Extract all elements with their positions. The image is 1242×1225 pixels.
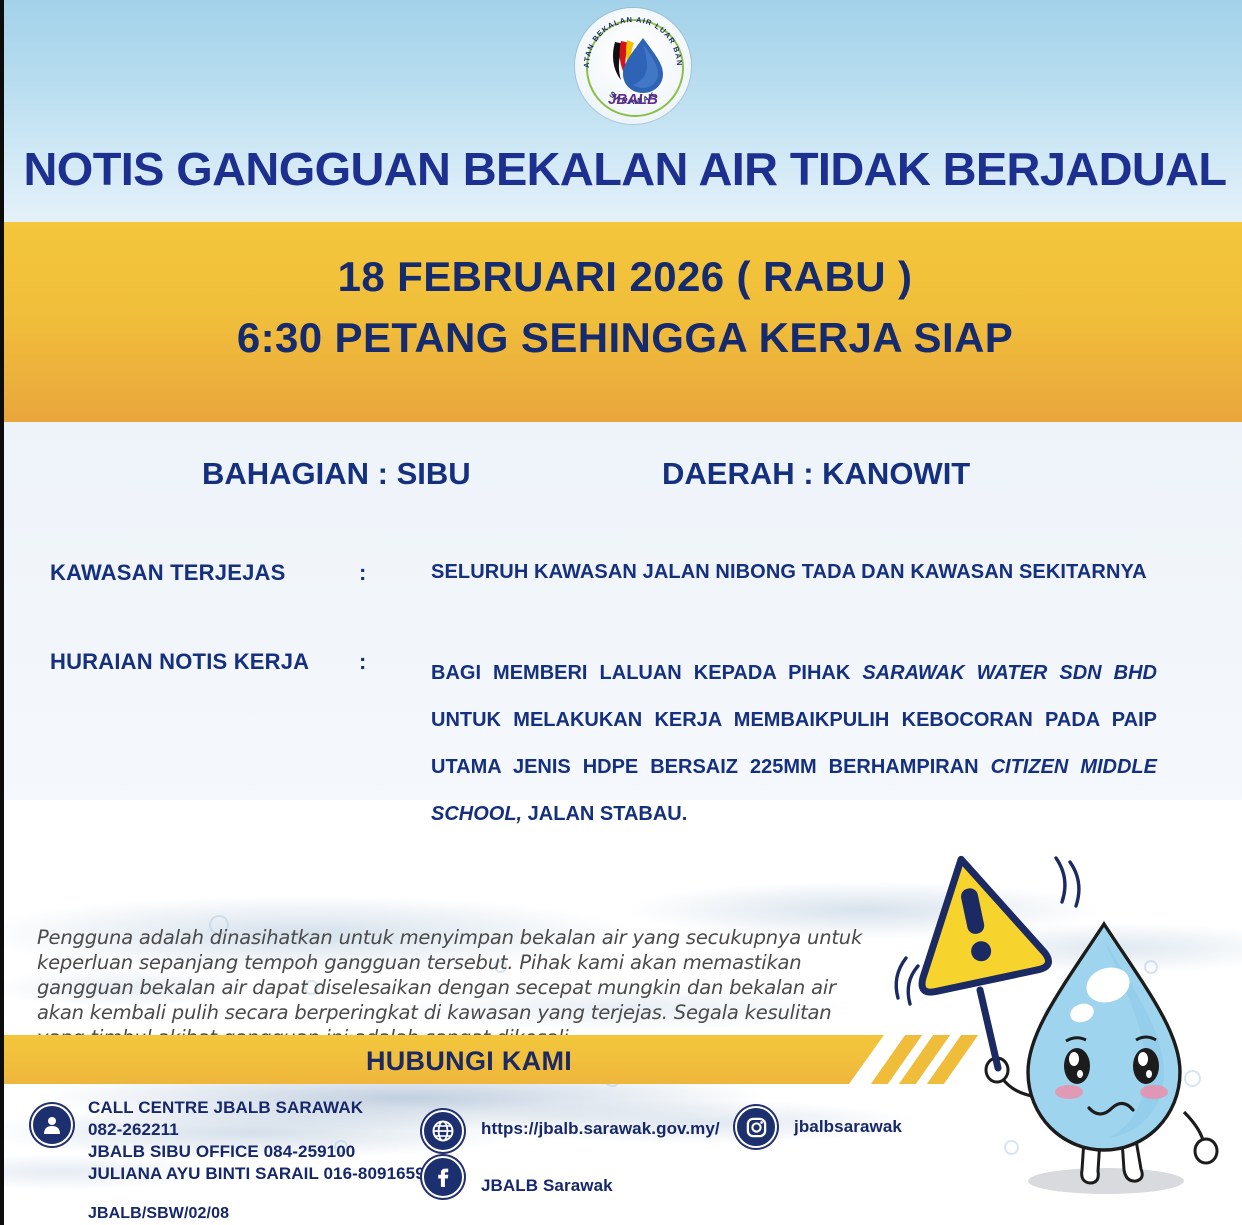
water-disruption-notice-poster: JABATAN BEKALAN AIR LUAR BANDAR SARAWAK … xyxy=(0,0,1242,1225)
sibu-office-phone: JBALB SIBU OFFICE 084-259100 xyxy=(88,1142,355,1162)
affected-area-colon: : xyxy=(359,560,366,586)
time-line: 6:30 PETANG SEHINGGA KERJA SIAP xyxy=(4,314,1242,362)
logo-brand-text: JBALB xyxy=(608,91,658,108)
contact-banner-title: HUBUNGI KAMI xyxy=(4,1046,934,1077)
work-desc-part3: JALAN STABAU. xyxy=(522,803,687,825)
globe-icon[interactable] xyxy=(422,1110,464,1152)
facebook-handle[interactable]: JBALB Sarawak xyxy=(481,1176,613,1196)
poster-title: NOTIS GANGGUAN BEKALAN AIR TIDAK BERJADU… xyxy=(0,142,1242,196)
website-url[interactable]: https://jbalb.sarawak.gov.my/ xyxy=(481,1119,720,1139)
instagram-icon[interactable] xyxy=(735,1106,777,1148)
advisory-paragraph: Pengguna adalah dinasihatkan untuk menyi… xyxy=(37,925,877,1050)
work-description-body: BAGI MEMBERI LALUAN KEPADA PIHAK SARAWAK… xyxy=(431,650,1157,838)
jbalb-logo: JABATAN BEKALAN AIR LUAR BANDAR SARAWAK … xyxy=(575,8,691,124)
officer-contact: JULIANA AYU BINTI SARAIL 016-8091659 xyxy=(88,1164,425,1184)
call-centre-phone: 082-262211 xyxy=(88,1120,179,1140)
call-centre-title: CALL CENTRE JBALB SARAWAK xyxy=(88,1098,363,1118)
work-desc-italic-company: SARAWAK WATER SDN BHD xyxy=(862,662,1157,684)
water-droplet-mascot xyxy=(884,840,1242,1225)
work-description-colon: : xyxy=(359,649,366,675)
affected-area-value: SELURUH KAWASAN JALAN NIBONG TADA DAN KA… xyxy=(431,561,1147,584)
daerah-label: DAERAH : KANOWIT xyxy=(662,456,970,492)
affected-area-label: KAWASAN TERJEJAS xyxy=(50,560,285,586)
bahagian-label: BAHAGIAN : SIBU xyxy=(202,456,471,492)
date-line: 18 FEBRUARI 2026 ( RABU ) xyxy=(4,253,1242,301)
facebook-icon[interactable] xyxy=(422,1156,464,1198)
work-description-label: HURAIAN NOTIS KERJA xyxy=(50,649,309,675)
reference-number: JBALB/SBW/02/08 xyxy=(88,1205,229,1223)
work-desc-part1: BAGI MEMBERI LALUAN KEPADA PIHAK xyxy=(431,662,862,684)
person-icon xyxy=(31,1104,73,1146)
instagram-handle[interactable]: jbalbsarawak xyxy=(794,1117,902,1137)
